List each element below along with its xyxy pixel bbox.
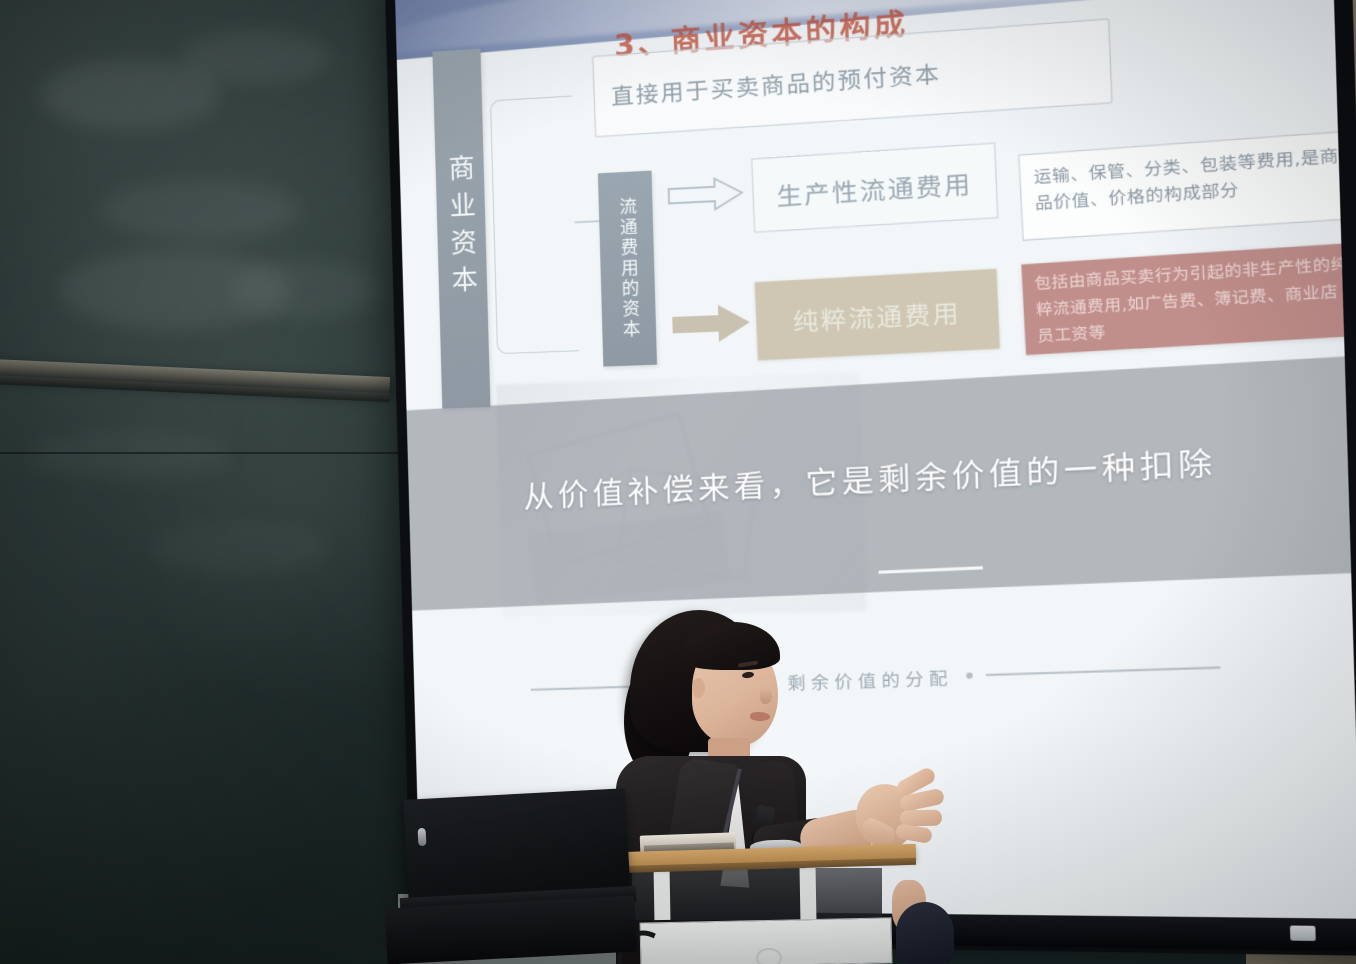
vertical-label-commercial-capital: 商业资本 bbox=[432, 49, 490, 409]
box-advance-capital-text: 直接用于买卖商品的预付资本 bbox=[611, 56, 942, 112]
chalk-smudge bbox=[100, 180, 300, 240]
footer-dot-right bbox=[966, 672, 973, 679]
arrow-solid-icon bbox=[670, 301, 753, 345]
box-productive-circulation-cost-text: 生产性流通费用 bbox=[776, 163, 973, 212]
vertical-label-main-text: 商业资本 bbox=[441, 154, 482, 304]
arrow-outline-icon bbox=[666, 175, 744, 214]
box-pure-circulation-cost-text: 纯粹流通费用 bbox=[792, 292, 961, 337]
chalk-smudge bbox=[30, 430, 230, 480]
box-description-transport: 运输、保管、分类、包装等费用,是商品价值、价格的构成部分 bbox=[1018, 130, 1356, 241]
bracket-stem bbox=[575, 220, 602, 223]
vertical-label-sub-text: 流通费用的资本 bbox=[612, 197, 643, 341]
mouth bbox=[750, 712, 770, 721]
laptop-base bbox=[385, 895, 638, 964]
chalk-smudge bbox=[150, 520, 330, 575]
chalk-smudge bbox=[180, 30, 330, 85]
nose bbox=[760, 688, 772, 704]
box-pure-circulation-cost: 纯粹流通费用 bbox=[755, 269, 1000, 361]
ear bbox=[692, 678, 705, 698]
laptop-indicator bbox=[418, 828, 427, 846]
footer-rule-right bbox=[986, 667, 1221, 676]
laptop bbox=[400, 788, 660, 964]
box-description-transport-text: 运输、保管、分类、包装等费用,是商品价值、价格的构成部分 bbox=[1033, 142, 1346, 217]
bracket-connector bbox=[490, 96, 579, 355]
chalk-smudge bbox=[230, 260, 380, 320]
box-description-pure-cost: 包括由商品买卖行为引起的非生产性的纯粹流通费用,如广告费、簿记费、商业店员工资等 bbox=[1021, 242, 1356, 355]
vertical-label-circulation-cost-capital: 流通费用的资本 bbox=[598, 171, 657, 367]
box-productive-circulation-cost: 生产性流通费用 bbox=[751, 142, 998, 232]
podium-emblem bbox=[756, 948, 782, 964]
podium-leg-right bbox=[800, 868, 817, 920]
screen-brand-logo bbox=[1290, 926, 1316, 941]
box-description-pure-cost-text: 包括由商品买卖行为引起的非生产性的纯粹流通费用,如广告费、簿记费、商业店员工资等 bbox=[1034, 251, 1353, 350]
lecture-hall-scene: 、及其职能 和商业利润 政治经济学 3、商业资本的构成 商业资本 直接用于买卖商… bbox=[0, 0, 1356, 964]
